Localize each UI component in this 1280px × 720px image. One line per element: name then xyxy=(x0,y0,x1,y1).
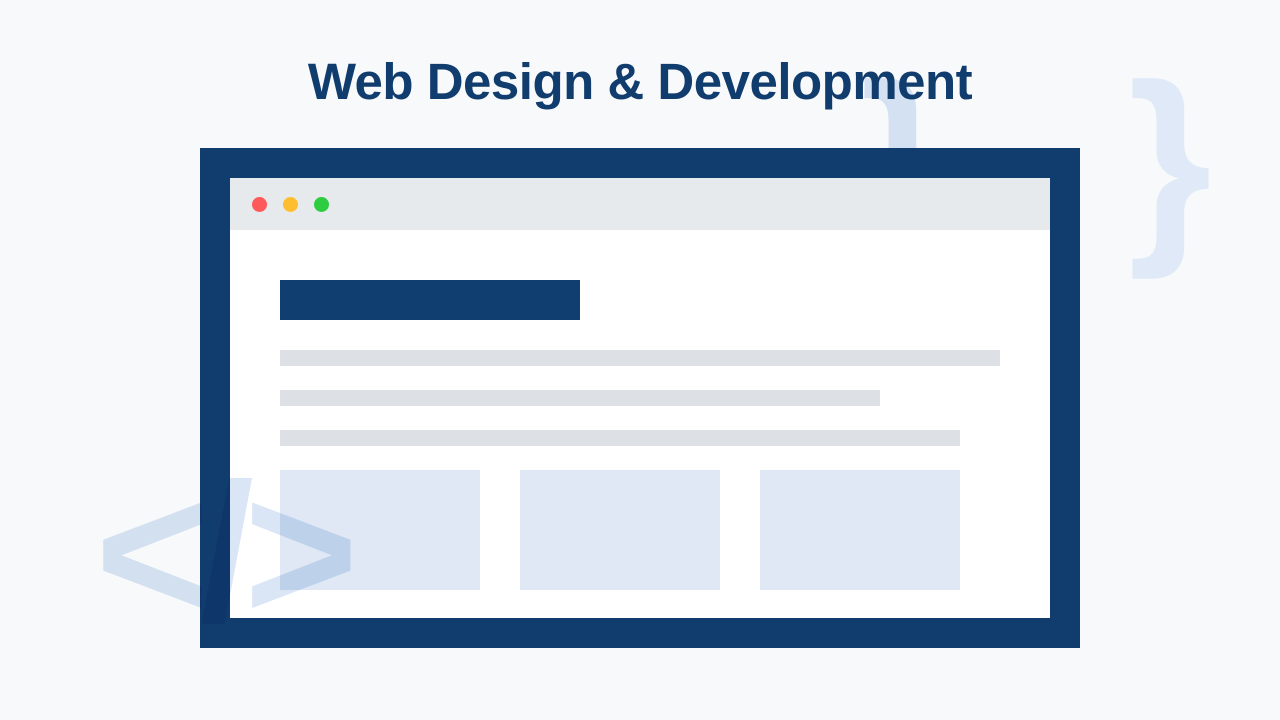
content-card xyxy=(760,470,960,590)
content-card xyxy=(520,470,720,590)
page-content-skeleton xyxy=(230,230,1050,590)
illustration-canvas: } } Web Design & Development xyxy=(0,0,1280,720)
heading-placeholder-block xyxy=(280,280,580,320)
text-placeholder-line xyxy=(280,350,1000,366)
browser-titlebar xyxy=(230,178,1050,230)
close-window-icon[interactable] xyxy=(252,197,267,212)
card-row xyxy=(280,470,1050,590)
content-card xyxy=(280,470,480,590)
maximize-window-icon[interactable] xyxy=(314,197,329,212)
browser-window-mockup xyxy=(200,148,1080,648)
browser-viewport xyxy=(230,178,1050,618)
page-title: Web Design & Development xyxy=(0,52,1280,111)
text-placeholder-line xyxy=(280,430,960,446)
minimize-window-icon[interactable] xyxy=(283,197,298,212)
text-placeholder-line xyxy=(280,390,880,406)
window-controls xyxy=(252,197,329,212)
